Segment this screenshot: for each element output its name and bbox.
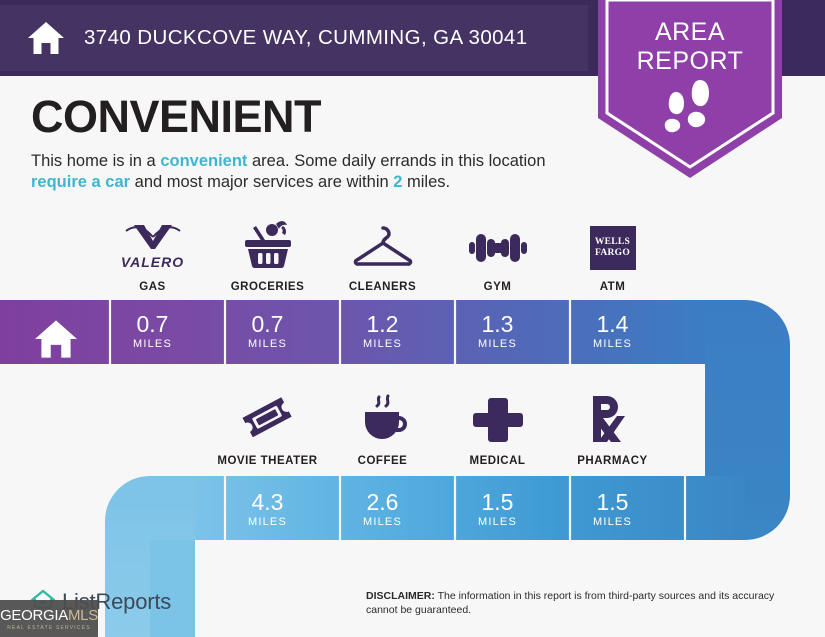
distance-value: 0.7 xyxy=(95,312,210,337)
distance-value: 4.3 xyxy=(210,490,325,515)
distance-cell: 1.5 MILES xyxy=(440,490,555,528)
property-address: 3740 DUCKCOVE WAY, CUMMING, GA 30041 xyxy=(84,26,528,50)
distance-cell: 2.6 MILES xyxy=(325,490,440,528)
distance-value: 1.5 xyxy=(555,490,670,515)
category-label: MOVIE THEATER xyxy=(217,455,317,467)
distance-cell: 0.7 MILES xyxy=(95,312,210,350)
distance-cell: 0.7 MILES xyxy=(210,312,325,350)
georgia-mls-watermark: GEORGIAMLS REAL ESTATE SERVICES xyxy=(0,600,98,637)
valero-logo-icon: VALERO xyxy=(121,218,184,270)
category-gym: GYM xyxy=(440,218,555,293)
summary-part-2: area. Some daily errands in this locatio… xyxy=(247,152,545,170)
distance-unit: MILES xyxy=(325,516,440,528)
category-movie-theater: MOVIE THEATER xyxy=(210,392,325,467)
category-label: MEDICAL xyxy=(470,455,526,467)
distance-cell: 1.4 MILES xyxy=(555,312,670,350)
distance-ribbon xyxy=(0,300,825,637)
category-label: GAS xyxy=(139,281,165,293)
area-report-page: 3740 DUCKCOVE WAY, CUMMING, GA 30041 ARE… xyxy=(0,0,825,637)
title-block: CONVENIENT This home is in a convenient … xyxy=(31,92,591,193)
wells-fargo-logo-icon: WELLS FARGO xyxy=(590,218,636,270)
wells-fargo-line-2: FARGO xyxy=(595,248,630,259)
summary-part-3: and most major services are within xyxy=(130,173,393,191)
summary-part-4: miles. xyxy=(402,173,450,191)
category-coffee: COFFEE xyxy=(325,392,440,467)
distance-cell: 1.2 MILES xyxy=(325,312,440,350)
distance-value: 1.2 xyxy=(325,312,440,337)
category-groceries: GROCERIES xyxy=(210,218,325,293)
category-cleaners: CLEANERS xyxy=(325,218,440,293)
summary-text: This home is in a convenient area. Some … xyxy=(31,151,591,193)
distance-row-2: 4.3 MILES 2.6 MILES 1.5 MILES 1.5 MILES xyxy=(210,490,715,528)
category-label: GYM xyxy=(484,281,512,293)
distance-unit: MILES xyxy=(325,338,440,350)
category-label: ATM xyxy=(600,281,626,293)
distance-value: 1.5 xyxy=(440,490,555,515)
category-medical: MEDICAL xyxy=(440,392,555,467)
disclaimer-label: DISCLAIMER: xyxy=(366,590,435,602)
distance-unit: MILES xyxy=(440,516,555,528)
distance-unit: MILES xyxy=(555,338,670,350)
distance-unit: MILES xyxy=(210,338,325,350)
medical-cross-icon xyxy=(473,392,523,444)
movie-ticket-icon xyxy=(240,392,296,444)
distance-row-1: 0.7 MILES 0.7 MILES 1.2 MILES 1.3 MILES … xyxy=(95,312,715,350)
distance-cell: 1.3 MILES xyxy=(440,312,555,350)
category-label: COFFEE xyxy=(358,455,408,467)
distance-unit: MILES xyxy=(210,516,325,528)
distance-value: 0.7 xyxy=(210,312,325,337)
distance-value: 1.4 xyxy=(555,312,670,337)
category-atm: WELLS FARGO ATM xyxy=(555,218,670,293)
dumbbell-icon xyxy=(467,218,529,270)
category-gas: VALERO GAS xyxy=(95,218,210,293)
distance-value: 1.3 xyxy=(440,312,555,337)
distance-unit: MILES xyxy=(555,516,670,528)
category-label: PHARMACY xyxy=(577,455,647,467)
distance-unit: MILES xyxy=(95,338,210,350)
page-title: CONVENIENT xyxy=(31,92,591,142)
distance-cell: 1.5 MILES xyxy=(555,490,670,528)
category-label: CLEANERS xyxy=(349,281,416,293)
category-icon-row-2: MOVIE THEATER COFFEE xyxy=(210,392,715,467)
distance-cell: 4.3 MILES xyxy=(210,490,325,528)
watermark-tagline: REAL ESTATE SERVICES xyxy=(7,625,91,631)
category-icon-row-1: VALERO GAS xyxy=(95,218,715,293)
summary-highlight-1: convenient xyxy=(160,152,247,170)
clothes-hanger-icon xyxy=(351,218,415,270)
rx-prescription-icon xyxy=(587,392,639,444)
distance-unit: MILES xyxy=(440,338,555,350)
category-label: GROCERIES xyxy=(231,281,305,293)
home-icon xyxy=(26,20,66,56)
coffee-cup-icon xyxy=(355,392,411,444)
valero-wordmark: VALERO xyxy=(121,254,184,270)
wells-fargo-line-1: WELLS xyxy=(595,237,630,248)
watermark-brand: GEORGIAMLS xyxy=(0,607,98,624)
summary-part-1: This home is in a xyxy=(31,152,160,170)
distance-value: 2.6 xyxy=(325,490,440,515)
category-pharmacy: PHARMACY xyxy=(555,392,670,467)
watermark-brand-part-1: GEORGIA xyxy=(0,607,68,624)
area-report-badge: AREA REPORT xyxy=(588,0,792,182)
shopping-basket-icon xyxy=(239,218,297,270)
watermark-brand-part-2: MLS xyxy=(68,607,98,624)
home-marker-icon xyxy=(32,318,80,360)
summary-highlight-2: require a car xyxy=(31,173,130,191)
disclaimer: DISCLAIMER: The information in this repo… xyxy=(366,590,806,617)
